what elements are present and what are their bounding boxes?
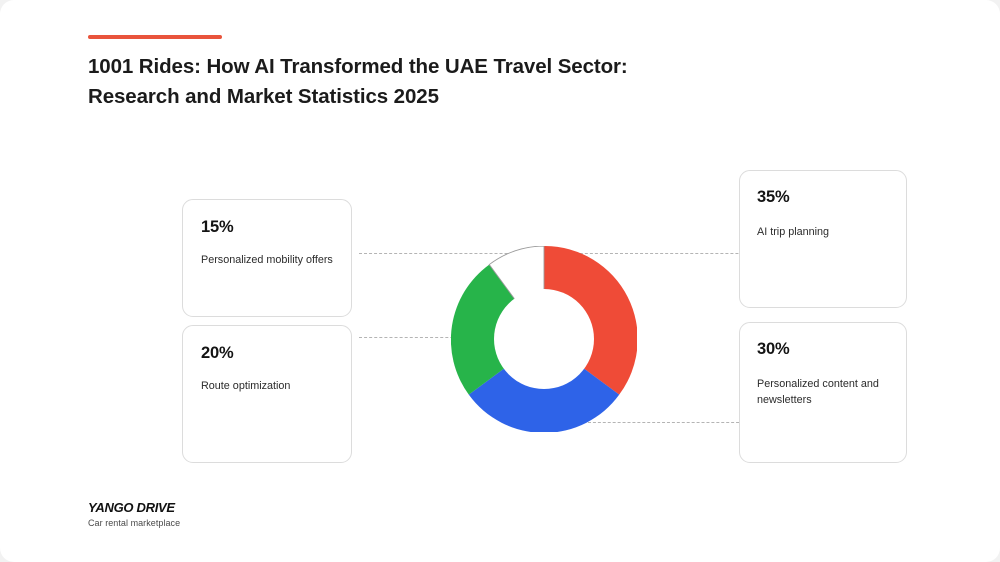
accent-bar [88,35,222,39]
callout-percent: 35% [757,188,789,207]
brand-logo: YANGO DRIVE Car rental marketplace [88,500,180,528]
callout-box-personalized-content[interactable]: 30% Personalized content and newsletters [739,322,907,463]
callout-description: Route optimization [201,378,351,394]
callout-description: Personalized content and newsletters [757,376,897,408]
callout-box-personalized-mobility[interactable]: 15% Personalized mobility offers [182,199,352,317]
callout-box-route-optimization[interactable]: 20% Route optimization [182,325,352,463]
callout-percent: 15% [201,218,233,237]
page-title-line-2: Research and Market Statistics 2025 [88,82,728,112]
callout-percent: 30% [757,340,789,359]
callout-description: AI trip planning [757,224,897,240]
callout-box-ai-trip-planning[interactable]: 35% AI trip planning [739,170,907,308]
logo-wordmark: YANGO DRIVE [88,500,180,515]
page-title-line-1: 1001 Rides: How AI Transformed the UAE T… [88,52,728,82]
donut-hole [494,289,594,389]
logo-tagline: Car rental marketplace [88,518,180,528]
donut-chart-svg [451,246,637,432]
infographic-slide: 1001 Rides: How AI Transformed the UAE T… [0,0,1000,562]
callout-percent: 20% [201,344,233,363]
donut-chart [451,246,637,432]
callout-description: Personalized mobility offers [201,252,351,268]
page-title: 1001 Rides: How AI Transformed the UAE T… [88,52,728,112]
